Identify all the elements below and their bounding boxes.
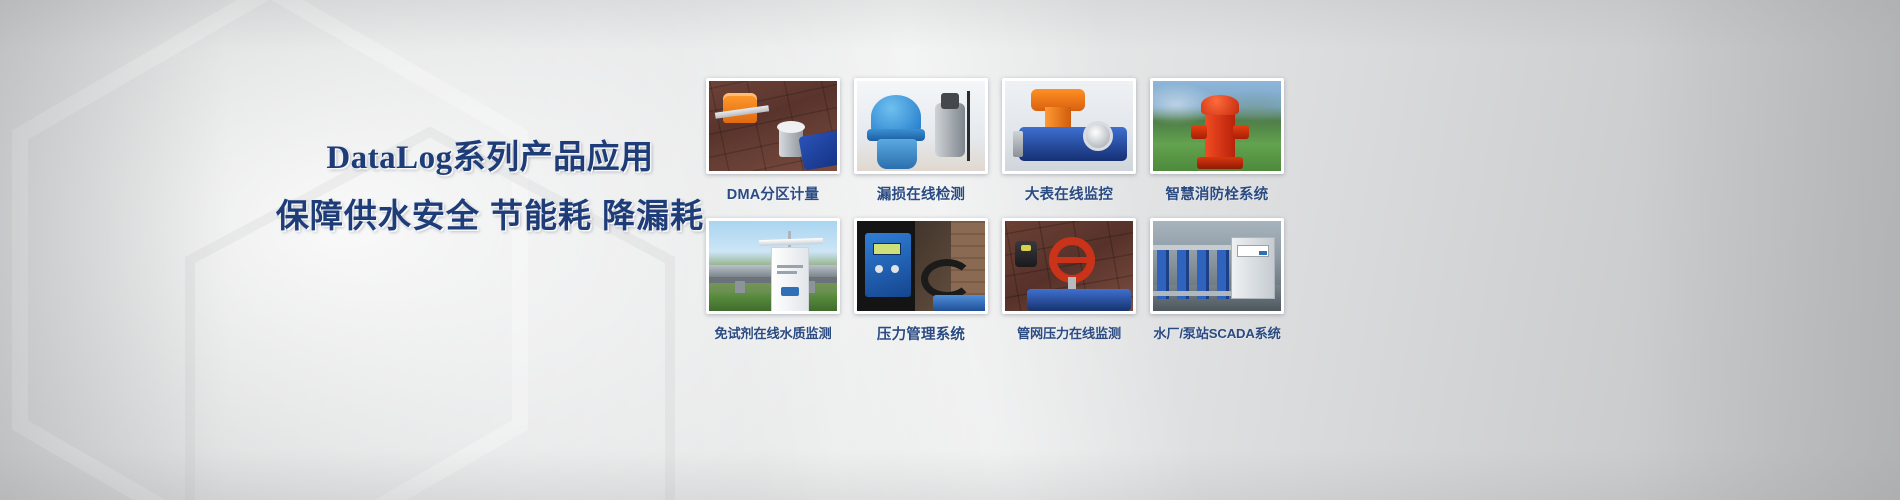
product-card-scada-system[interactable]: 水厂/泵站SCADA系统: [1150, 218, 1284, 344]
product-thumbnail[interactable]: [1002, 218, 1136, 314]
product-card-water-quality-monitoring[interactable]: 免试剂在线水质监测: [706, 218, 840, 344]
product-card-leakage-online-detection[interactable]: 漏损在线检测: [854, 78, 988, 204]
product-thumbnail[interactable]: [854, 78, 988, 174]
product-caption: 免试剂在线水质监测: [706, 323, 840, 342]
product-thumbnail[interactable]: [706, 218, 840, 314]
headline-primary: DataLog系列产品应用: [275, 140, 705, 176]
headline-block: DataLog系列产品应用 保障供水安全 节能耗 降漏耗: [275, 140, 705, 235]
product-card-pressure-management[interactable]: 压力管理系统: [854, 218, 988, 344]
product-card-pipe-network-pressure[interactable]: 管网压力在线监测: [1002, 218, 1136, 344]
product-card-dma-zone-metering[interactable]: DMA分区计量: [706, 78, 840, 204]
product-caption: 水厂/泵站SCADA系统: [1150, 323, 1284, 342]
hexagon-watermark-icon: [0, 0, 580, 500]
product-caption: DMA分区计量: [706, 183, 840, 204]
product-caption: 大表在线监控: [1002, 183, 1136, 204]
smart-fire-hydrant-system-photo: [1153, 81, 1281, 171]
product-card-smart-fire-hydrant[interactable]: 智慧消防栓系统: [1150, 78, 1284, 204]
product-thumbnail[interactable]: [1150, 78, 1284, 174]
product-caption: 管网压力在线监测: [1002, 323, 1136, 342]
headline-secondary: 保障供水安全 节能耗 降漏耗: [275, 198, 705, 234]
product-caption: 智慧消防栓系统: [1150, 183, 1284, 204]
pressure-management-system-photo: [857, 221, 985, 311]
waterworks-pump-station-scada-photo: [1153, 221, 1281, 311]
reagent-free-water-quality-monitoring-photo: [709, 221, 837, 311]
product-thumbnail[interactable]: [706, 78, 840, 174]
product-card-large-meter-monitoring[interactable]: 大表在线监控: [1002, 78, 1136, 204]
dma-zone-metering-photo: [709, 81, 837, 171]
large-meter-online-monitoring-photo: [1005, 81, 1133, 171]
product-application-banner: DataLog系列产品应用 保障供水安全 节能耗 降漏耗 DMA分区计量 漏损在…: [0, 0, 1900, 500]
product-caption: 压力管理系统: [854, 323, 988, 344]
product-grid: DMA分区计量 漏损在线检测 大表在线监控: [706, 78, 1286, 344]
product-thumbnail[interactable]: [1150, 218, 1284, 314]
product-thumbnail[interactable]: [854, 218, 988, 314]
product-thumbnail[interactable]: [1002, 78, 1136, 174]
product-caption: 漏损在线检测: [854, 183, 988, 204]
leakage-online-detection-photo: [857, 81, 985, 171]
pipe-network-pressure-monitoring-photo: [1005, 221, 1133, 311]
